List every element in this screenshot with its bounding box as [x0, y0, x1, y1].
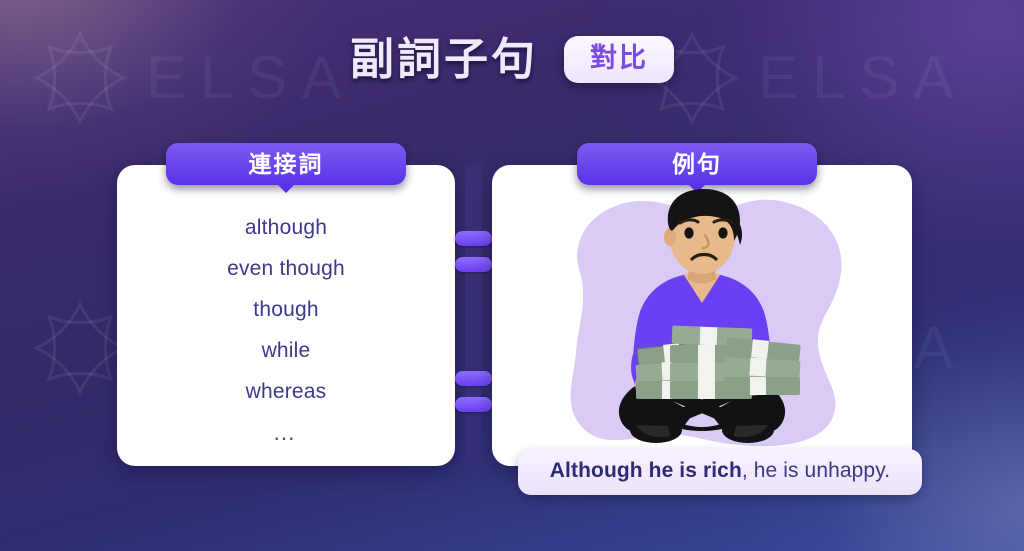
sad-rich-man-illustration	[492, 165, 912, 466]
conjunctions-card: 連接詞 although even though though while wh…	[117, 165, 455, 466]
example-sentence-rest: , he is unhappy.	[742, 459, 890, 482]
list-item: while	[262, 330, 311, 371]
list-item: though	[253, 289, 318, 330]
conjunctions-card-tab: 連接詞	[166, 143, 406, 185]
example-sentence: Although he is rich, he is unhappy.	[536, 459, 904, 483]
binder-connector	[455, 165, 492, 466]
list-item: although	[245, 207, 327, 248]
binder-ring	[455, 231, 492, 246]
binder-ring	[455, 257, 492, 272]
sad-rich-man-with-money-stacks-icon	[544, 187, 860, 449]
binder-ring	[455, 397, 492, 412]
binder-ring	[455, 371, 492, 386]
slide-canvas: ELSA ELSA ELSA	[0, 0, 1024, 551]
conjunction-list: although even though though while wherea…	[117, 207, 455, 453]
binder-spine	[465, 165, 482, 466]
example-card: 例句	[492, 165, 912, 466]
list-item: whereas	[246, 371, 327, 412]
example-sentence-banner: Although he is rich, he is unhappy.	[518, 449, 922, 495]
topic-badge: 對比	[564, 36, 674, 83]
example-sentence-clause: Although he is rich	[550, 459, 742, 482]
list-item: even though	[227, 248, 345, 289]
list-item-ellipsis: …	[273, 412, 300, 453]
page-title: 副詞子句	[350, 38, 538, 82]
slide-header: 副詞子句 對比	[0, 36, 1024, 83]
